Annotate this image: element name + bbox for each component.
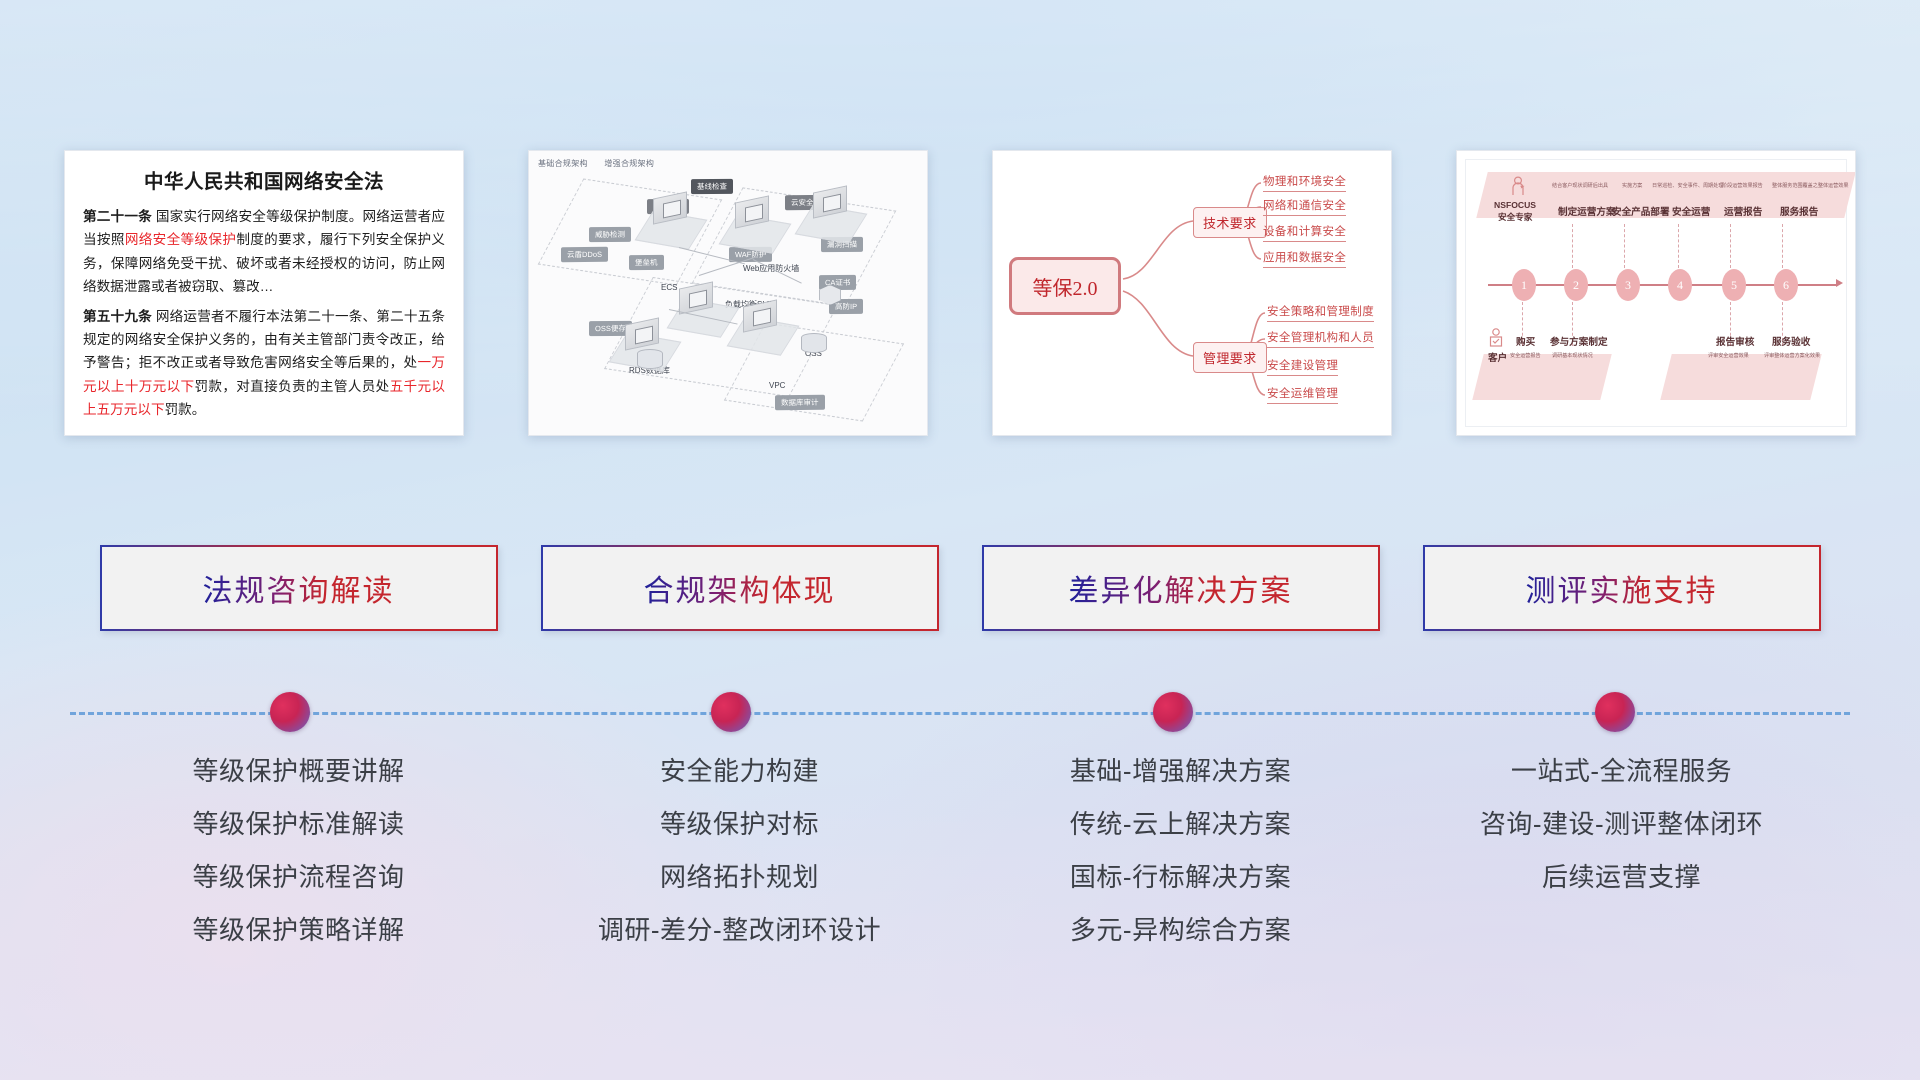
mindmap-leaf-mgmt-1: 安全策略和管理制度: [1267, 303, 1374, 322]
mindmap-leaf-tech-3: 设备和计算安全: [1263, 223, 1346, 242]
architecture-chip-db-audit: 数据库审计: [775, 395, 825, 410]
nsfocus-bottom-right-band: [1660, 354, 1821, 400]
architecture-header-right: 增强合规架构: [604, 159, 654, 168]
mindmap-branch-management: 管理要求: [1193, 342, 1267, 373]
architecture-db-node: [637, 349, 663, 369]
nsfocus-top-title-2: 安全产品部署: [1612, 204, 1670, 218]
nsfocus-top-title-5: 服务报告: [1780, 204, 1818, 218]
architecture-header: 基础合规架构 增强合规架构: [538, 158, 668, 169]
list-item: 基础-增强解决方案: [1070, 758, 1291, 784]
nsfocus-top-caption-5: 整体服务范围覆盖之整体运营效果: [1772, 182, 1848, 189]
nsfocus-step-3: 3: [1616, 269, 1640, 301]
mindmap-leaf-tech-4: 应用和数据安全: [1263, 249, 1346, 268]
architecture-chip-bastion: 堡垒机: [629, 255, 664, 270]
nsfocus-leader-5: [1730, 224, 1731, 268]
nsfocus-bottom-caption-3: 评审安全运营效果: [1708, 352, 1749, 359]
thumbnail-compliance-architecture[interactable]: 基础合规架构 增强合规架构 基线检查 安全管家 云安全中心 威胁检测 云盾DDo…: [528, 150, 928, 436]
list-item: 等级保护对标: [660, 811, 819, 837]
list-item: 等级保护标准解读: [192, 811, 404, 837]
section-title-regulation-consulting[interactable]: 法规咨询解读: [100, 545, 498, 631]
nsfocus-leader-2: [1572, 224, 1573, 268]
nsfocus-customer-label: 客户: [1488, 350, 1507, 364]
nsfocus-step-4: 4: [1668, 269, 1692, 301]
nsfocus-bottom-caption-1: 安全运营报告: [1510, 352, 1541, 359]
nsfocus-leader-4: [1678, 224, 1679, 268]
architecture-label-vpc: VPC: [769, 381, 785, 390]
list-item: 调研-差分-整改闭环设计: [598, 917, 881, 943]
list-item: 传统-云上解决方案: [1070, 811, 1291, 837]
nsfocus-step-1: 1: [1512, 269, 1536, 301]
law-text-59-c: 罚款。: [165, 402, 206, 417]
list-item: 安全能力构建: [660, 758, 819, 784]
thumbnail-dengbao-mindmap[interactable]: 等保2.0 技术要求 管理要求 物理和环境安全 网络和通信安全 设备和计算安全 …: [992, 150, 1392, 436]
mindmap-leaf-tech-2: 网络和通信安全: [1263, 197, 1346, 216]
nsfocus-top-title-3: 安全运营: [1672, 204, 1710, 218]
nsfocus-bottom-title-3: 报告审核: [1716, 334, 1754, 348]
nsfocus-top-caption-2: 实施方案: [1622, 182, 1642, 189]
list-item: 等级保护概要讲解: [192, 758, 404, 784]
timeline-dot-2[interactable]: [711, 692, 751, 732]
customer-icon: [1488, 328, 1504, 348]
bullet-column-compliance-architecture: 安全能力构建 等级保护对标 网络拓扑规划 调研-差分-整改闭环设计: [541, 740, 939, 970]
bullet-column-evaluation-support: 一站式-全流程服务 咨询-建设-测评整体闭环 后续运营支撑: [1423, 740, 1821, 970]
architecture-label-ecs: ECS: [661, 283, 677, 292]
nsfocus-top-title-1: 制定运营方案: [1558, 204, 1616, 218]
security-expert-icon: [1510, 176, 1526, 196]
mindmap-leaf-mgmt-4: 安全运维管理: [1267, 385, 1338, 404]
timeline-dot-1[interactable]: [270, 692, 310, 732]
nsfocus-bottom-title-2: 参与方案制定: [1550, 334, 1608, 348]
list-item: 后续运营支撑: [1542, 864, 1701, 890]
law-paragraph-21: 第二十一条 国家实行网络安全等级保护制度。网络运营者应当按照网络安全等级保护制度…: [83, 205, 445, 299]
section-title-evaluation-support[interactable]: 测评实施支持: [1423, 545, 1821, 631]
bullet-column-differentiated-solution: 基础-增强解决方案 传统-云上解决方案 国标-行标解决方案 多元-异构综合方案: [982, 740, 1380, 970]
nsfocus-leader-6: [1782, 224, 1783, 268]
nsfocus-bottom-caption-4: 评审整体运营方案化效果: [1764, 352, 1820, 359]
architecture-chip-threat: 威胁检测: [589, 227, 631, 242]
timeline-dot-4[interactable]: [1595, 692, 1635, 732]
nsfocus-bottom-caption-2: 调研基本现状情况: [1552, 352, 1593, 359]
section-title-compliance-architecture[interactable]: 合规架构体现: [541, 545, 939, 631]
list-item: 多元-异构综合方案: [1070, 917, 1291, 943]
mindmap-leaf-mgmt-2: 安全管理机构和人员: [1267, 329, 1374, 348]
nsfocus-leader-3: [1624, 224, 1625, 268]
nsfocus-bottom-title-4: 服务验收: [1772, 334, 1810, 348]
slide-stage: 中华人民共和国网络安全法 第二十一条 国家实行网络安全等级保护制度。网络运营者应…: [0, 0, 1920, 1080]
list-item: 等级保护策略详解: [192, 917, 404, 943]
law-article-label-59: 第五十九条: [83, 309, 152, 324]
nsfocus-top-caption-1: 结合客户现状调研后出具: [1552, 182, 1608, 189]
architecture-oss-node: [801, 333, 827, 353]
mindmap-root-node: 等保2.0: [1009, 257, 1121, 315]
nsfocus-diagram: NSFOCUS 安全专家 结合客户现状调研后出具 制定运营方案 实施方案 安全产…: [1457, 151, 1855, 435]
architecture-chip-ddos: 云盾DDoS: [561, 247, 608, 262]
section-title-label: 测评实施支持: [1526, 566, 1718, 610]
nsfocus-step-5: 5: [1722, 269, 1746, 301]
thumbnail-cybersecurity-law[interactable]: 中华人民共和国网络安全法 第二十一条 国家实行网络安全等级保护制度。网络运营者应…: [64, 150, 464, 436]
bullet-column-regulation-consulting: 等级保护概要讲解 等级保护标准解读 等级保护流程咨询 等级保护策略详解: [100, 740, 498, 970]
nsfocus-frame: NSFOCUS 安全专家 结合客户现状调研后出具 制定运营方案 实施方案 安全产…: [1465, 159, 1847, 427]
nsfocus-expert-label-2: 安全专家: [1498, 211, 1532, 223]
nsfocus-bottom-title-1: 购买: [1516, 334, 1535, 348]
section-title-label: 法规咨询解读: [203, 566, 395, 610]
section-title-label: 合规架构体现: [644, 566, 836, 610]
thumbnail-nsfocus-timeline[interactable]: NSFOCUS 安全专家 结合客户现状调研后出具 制定运营方案 实施方案 安全产…: [1456, 150, 1856, 436]
law-text-59-b: 罚款，对直接负责的主管人员处: [195, 379, 390, 394]
mindmap-leaf-mgmt-3: 安全建设管理: [1267, 357, 1338, 376]
architecture-chip-baseline: 基线检查: [691, 179, 733, 194]
bullet-columns: 等级保护概要讲解 等级保护标准解读 等级保护流程咨询 等级保护策略详解 安全能力…: [0, 740, 1920, 970]
law-document: 中华人民共和国网络安全法 第二十一条 国家实行网络安全等级保护制度。网络运营者应…: [65, 151, 463, 435]
thumbnail-row: 中华人民共和国网络安全法 第二十一条 国家实行网络安全等级保护制度。网络运营者应…: [0, 150, 1920, 440]
architecture-diagram: 基础合规架构 增强合规架构 基线检查 安全管家 云安全中心 威胁检测 云盾DDo…: [529, 151, 927, 435]
architecture-header-left: 基础合规架构: [538, 159, 588, 168]
nsfocus-top-title-4: 运营报告: [1724, 204, 1762, 218]
nsfocus-top-caption-4: 阶段运营效果报告: [1722, 182, 1763, 189]
law-paragraph-59: 第五十九条 网络运营者不履行本法第二十一条、第二十五条规定的网络安全保护义务的，…: [83, 305, 445, 422]
timeline-dot-3[interactable]: [1153, 692, 1193, 732]
mindmap-branch-technical: 技术要求: [1193, 207, 1267, 238]
list-item: 等级保护流程咨询: [192, 864, 404, 890]
section-title-row: 法规咨询解读 合规架构体现 差异化解决方案 测评实施支持: [0, 545, 1920, 631]
law-text-21-highlight: 网络安全等级保护: [125, 232, 237, 247]
list-item: 一站式-全流程服务: [1511, 758, 1732, 784]
section-title-label: 差异化解决方案: [1069, 566, 1293, 610]
timeline-dashed-line: [70, 712, 1850, 715]
section-title-differentiated-solution[interactable]: 差异化解决方案: [982, 545, 1380, 631]
law-article-label-21: 第二十一条: [83, 209, 152, 224]
list-item: 网络拓扑规划: [660, 864, 819, 890]
mindmap-leaf-tech-1: 物理和环境安全: [1263, 173, 1346, 192]
nsfocus-timeline-arrow-icon: [1836, 279, 1843, 287]
nsfocus-top-caption-3: 日常巡检、安全事件、周期处理: [1652, 182, 1723, 189]
timeline: [70, 692, 1850, 734]
list-item: 国标-行标解决方案: [1070, 864, 1291, 890]
nsfocus-step-2: 2: [1564, 269, 1588, 301]
mindmap: 等保2.0 技术要求 管理要求 物理和环境安全 网络和通信安全 设备和计算安全 …: [993, 151, 1391, 435]
list-item: 咨询-建设-测评整体闭环: [1480, 811, 1763, 837]
law-title: 中华人民共和国网络安全法: [83, 165, 445, 194]
nsfocus-step-6: 6: [1774, 269, 1798, 301]
nsfocus-expert-label-1: NSFOCUS: [1494, 200, 1536, 210]
